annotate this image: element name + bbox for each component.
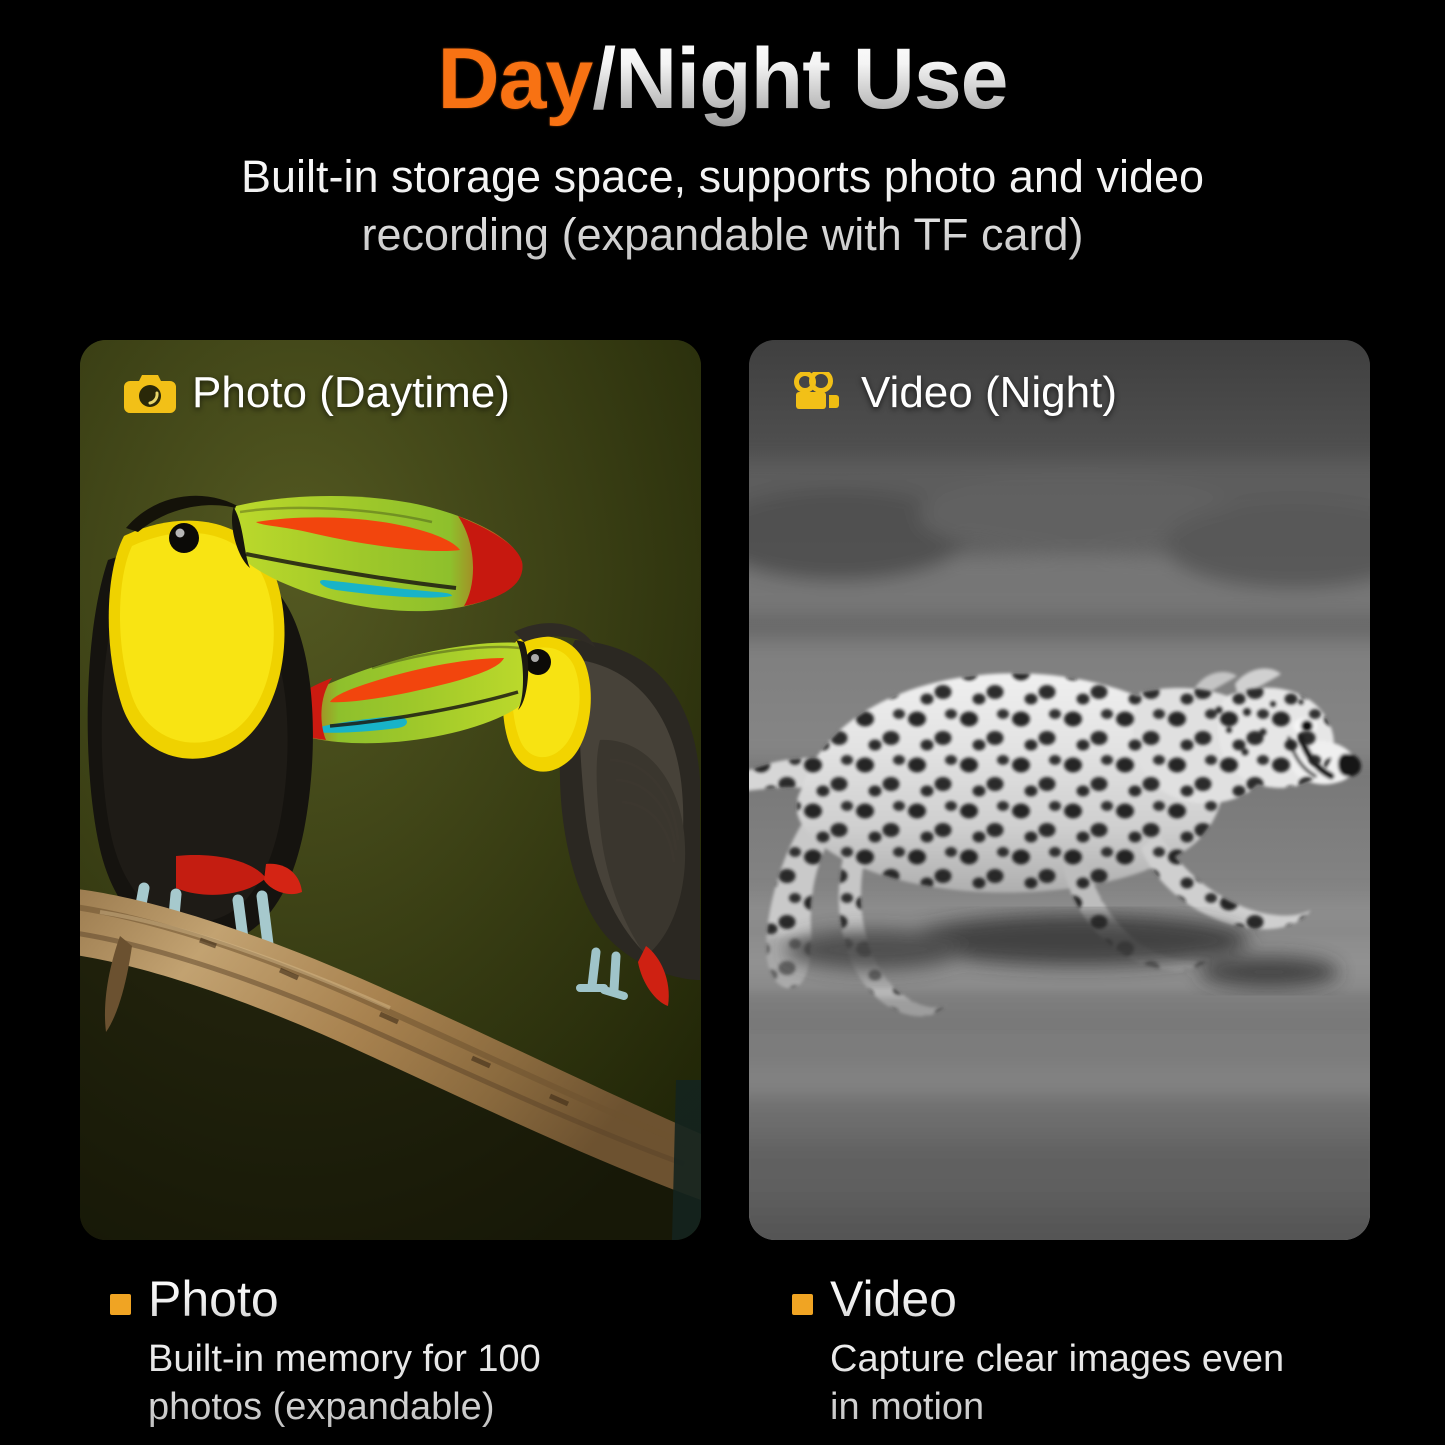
camera-icon (124, 372, 176, 414)
square-bullet-icon (110, 1294, 131, 1315)
video-card-label-text: Video (Night) (861, 368, 1117, 418)
page-header: Day/Night Use Built-in storage space, su… (0, 0, 1445, 263)
photo-caption-description: Built-in memory for 100 photos (expandab… (148, 1336, 578, 1431)
video-card[interactable]: Video (Night) (749, 340, 1370, 1240)
page-title-accent: Day (437, 31, 592, 127)
video-card-image (749, 340, 1370, 1240)
photo-caption-title: Photo (148, 1272, 680, 1326)
toucans-illustration (80, 340, 701, 1240)
video-caption: Video Capture clear images even in motio… (770, 1272, 1370, 1431)
photo-caption: Photo Built-in memory for 100 photos (ex… (80, 1272, 680, 1431)
photo-card-image (80, 340, 701, 1240)
page-title: Day/Night Use (0, 34, 1445, 124)
video-card-label: Video (Night) (793, 368, 1117, 418)
page-subtitle: Built-in storage space, supports photo a… (143, 148, 1303, 263)
square-bullet-icon (792, 1294, 813, 1315)
photo-card-label: Photo (Daytime) (124, 368, 510, 418)
media-card-group: Photo (Daytime) (80, 340, 1370, 1240)
cheetah-illustration (749, 340, 1370, 1240)
video-caption-description: Capture clear images even in motion (830, 1336, 1300, 1431)
photo-card[interactable]: Photo (Daytime) (80, 340, 701, 1240)
page-title-rest: /Night Use (592, 31, 1007, 127)
photo-card-label-text: Photo (Daytime) (192, 368, 510, 418)
video-caption-title: Video (830, 1272, 1370, 1326)
caption-group: Photo Built-in memory for 100 photos (ex… (80, 1272, 1370, 1431)
video-camera-icon (793, 372, 845, 414)
